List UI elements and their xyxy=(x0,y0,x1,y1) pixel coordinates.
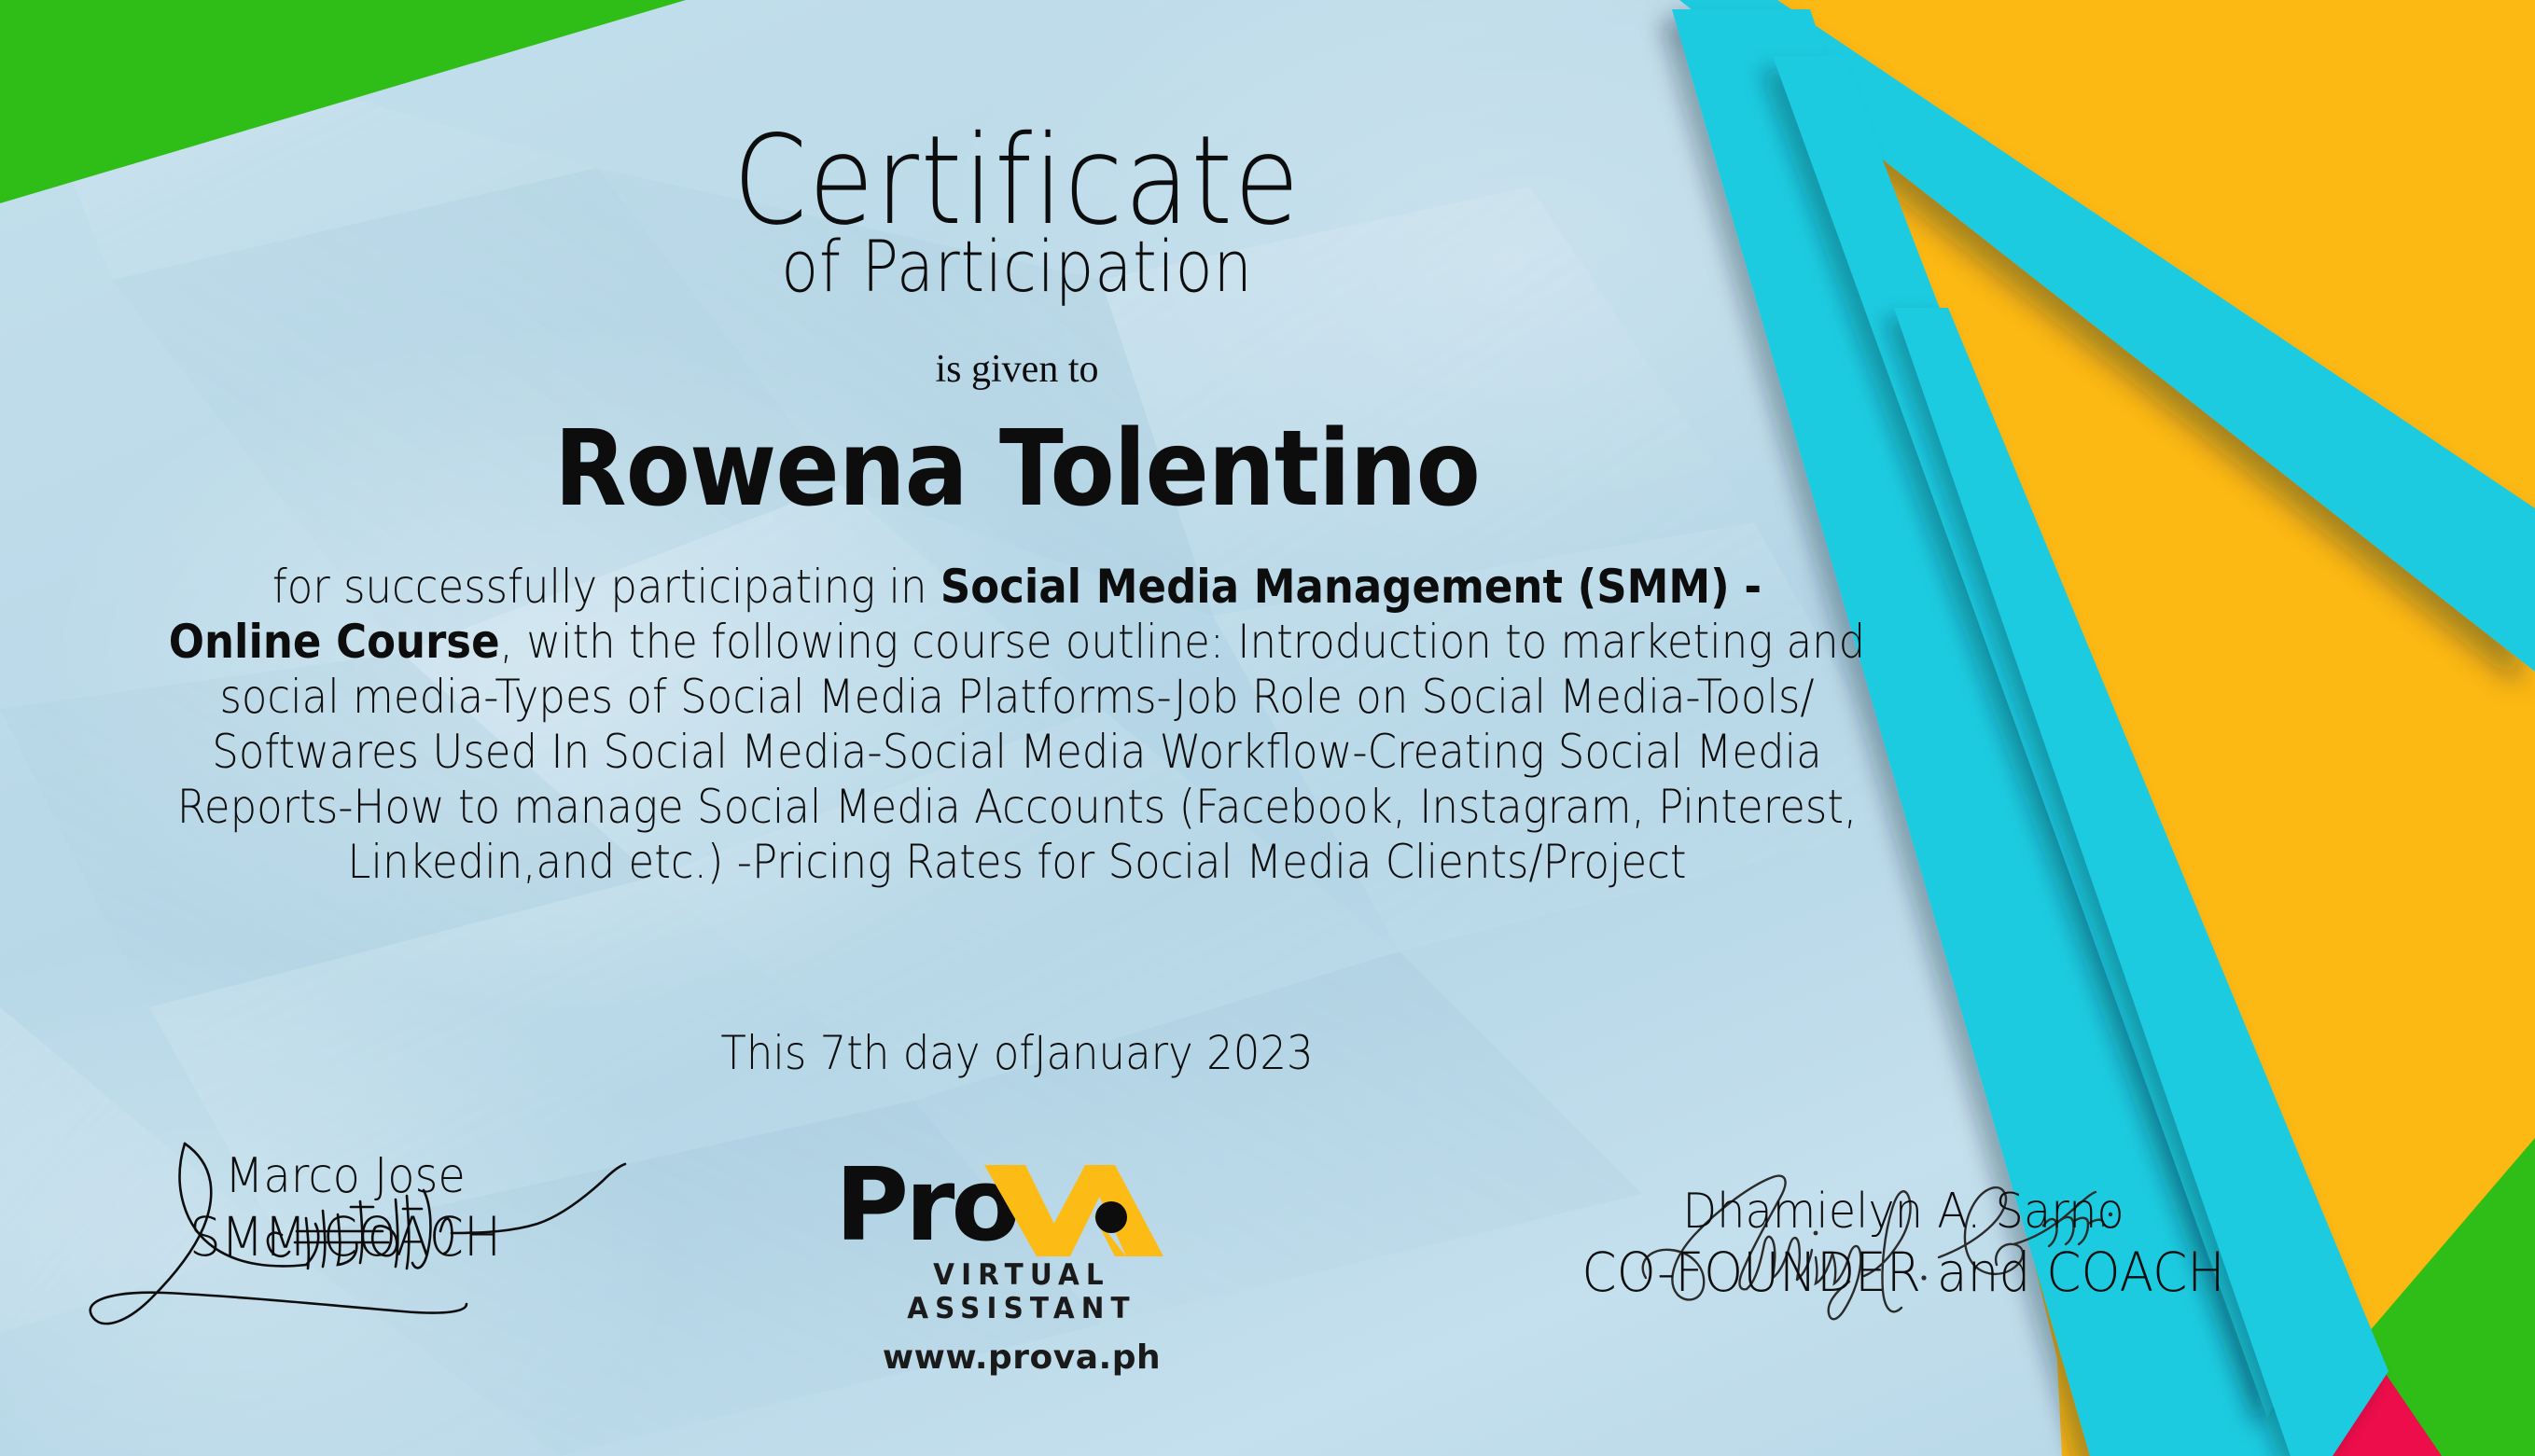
signatory-role: CO-FOUNDER and COACH xyxy=(1525,1241,2281,1304)
citation-body: for successfully participating in Social… xyxy=(127,560,1907,890)
recipient-name: Rowena Tolentino xyxy=(102,415,1932,525)
signature-block-right: Dhamielyn A. Sarno CO-FOUNDER and COACH xyxy=(1493,1183,2314,1304)
svg-text:Pro: Pro xyxy=(835,1159,1017,1256)
given-to-label: is given to xyxy=(0,347,2034,392)
course-name-part-1: Social Media Management (SMM) - xyxy=(940,560,1762,614)
signatory-name: Dhamielyn A. Sarno xyxy=(1525,1183,2281,1241)
logo-url: www.prova.ph xyxy=(835,1338,1208,1377)
signatory-role: SMM COACH xyxy=(79,1205,611,1269)
citation-line-1: for successfully participating in Social… xyxy=(272,560,1762,614)
prova-logo: Pro VIRTUAL ASSISTANT www.prova.ph xyxy=(835,1159,1208,1377)
page-subtitle: of Participation xyxy=(143,231,1892,302)
logo-tagline: VIRTUAL ASSISTANT xyxy=(844,1258,1199,1325)
signature-block-left: Marco Jose SMM COACH xyxy=(56,1147,634,1269)
date-line: This 7th day ofJanuary 2023 xyxy=(127,1026,1907,1080)
signatory-name: Marco Jose xyxy=(79,1147,611,1205)
course-name-part-2: Online Course xyxy=(169,615,500,669)
prova-logo-icon: Pro xyxy=(835,1159,1208,1256)
certificate-canvas: Certificate of Participation is given to… xyxy=(0,0,2535,1456)
